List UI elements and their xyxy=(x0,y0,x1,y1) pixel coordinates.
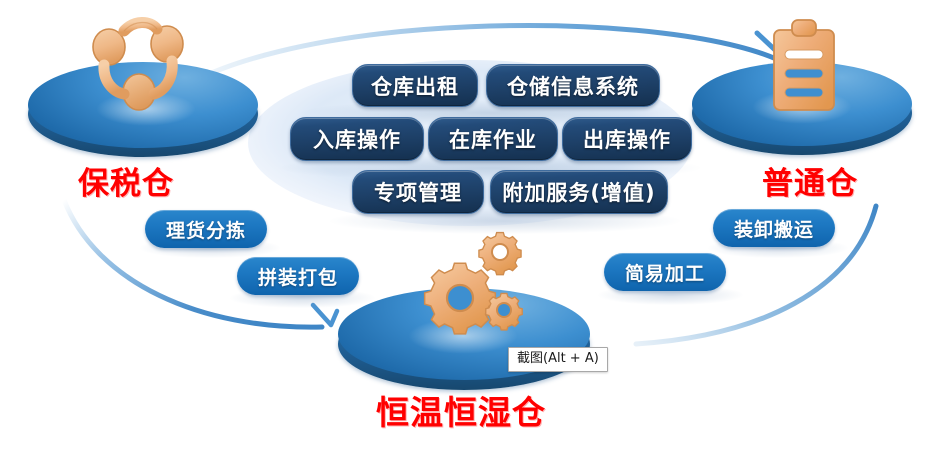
tooltip-label: 截图(Alt + A) xyxy=(517,351,599,366)
service-pill-outbound[interactable]: 出库操作 xyxy=(562,117,692,161)
arrowhead-bottom-left xyxy=(313,305,337,325)
service-pill-assembly-packing[interactable]: 拼装打包 xyxy=(237,257,359,295)
service-pill-inbound[interactable]: 入库操作 xyxy=(290,117,424,161)
pill-label: 理货分拣 xyxy=(166,216,246,243)
service-pill-value-added[interactable]: 附加服务(增值) xyxy=(490,170,668,214)
pill-label: 装卸搬运 xyxy=(734,215,814,242)
service-pill-instock[interactable]: 在库作业 xyxy=(428,117,558,161)
service-pill-simple-processing[interactable]: 简易加工 xyxy=(604,253,726,291)
pill-label: 拼装打包 xyxy=(258,263,338,290)
diagram-canvas: 保税仓 普通仓 xyxy=(0,0,936,450)
screenshot-tooltip: 截图(Alt + A) xyxy=(508,347,608,372)
pill-label: 专项管理 xyxy=(374,177,462,207)
pill-label: 简易加工 xyxy=(625,259,705,286)
service-pill-wms[interactable]: 仓储信息系统 xyxy=(486,64,660,107)
pill-label: 入库操作 xyxy=(313,124,401,154)
service-pill-sorting[interactable]: 理货分拣 xyxy=(145,210,267,248)
node-label-constant: 恒温恒湿仓 xyxy=(376,386,546,434)
service-pill-warehouse-rental[interactable]: 仓库出租 xyxy=(352,64,478,107)
service-pill-loading-unloading[interactable]: 装卸搬运 xyxy=(713,209,835,247)
pill-label: 仓库出租 xyxy=(371,71,459,101)
service-pill-special-management[interactable]: 专项管理 xyxy=(352,170,484,214)
clipboard-icon xyxy=(766,16,842,120)
pill-label: 出库操作 xyxy=(583,124,671,154)
node-label-bonded: 保税仓 xyxy=(78,158,174,203)
pill-label: 仓储信息系统 xyxy=(507,71,639,101)
people-teamwork-icon xyxy=(84,14,192,118)
node-label-general: 普通仓 xyxy=(762,158,858,203)
gears-icon xyxy=(412,226,530,338)
pill-label: 附加服务(增值) xyxy=(502,177,655,207)
pill-label: 在库作业 xyxy=(449,124,537,154)
